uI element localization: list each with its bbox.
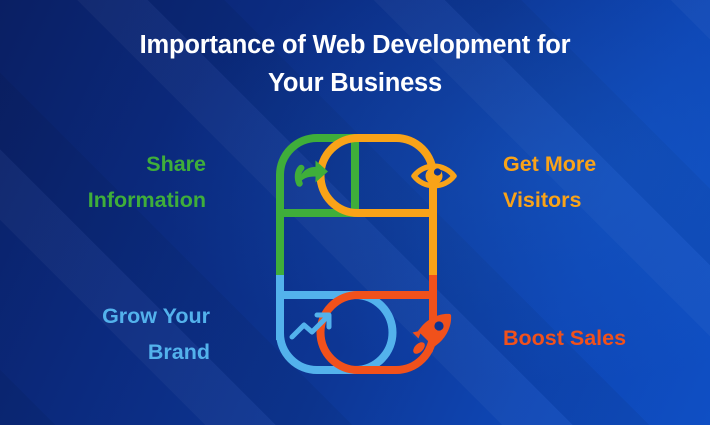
label-boost-sales: Boost Sales: [503, 320, 626, 356]
label-grow-your-brand: Grow Your Brand: [102, 298, 210, 370]
connector-left-green: [276, 209, 284, 276]
page-title: Importance of Web Development for Your B…: [0, 26, 710, 102]
eye-icon: [414, 166, 454, 186]
label-get-more-visitors: Get More Visitors: [503, 146, 596, 218]
pinwheel-diagram: [236, 134, 478, 378]
infographic-canvas: Importance of Web Development for Your B…: [0, 0, 710, 425]
rocket-icon: [411, 314, 451, 356]
label-share-information: Share Information: [88, 146, 206, 218]
